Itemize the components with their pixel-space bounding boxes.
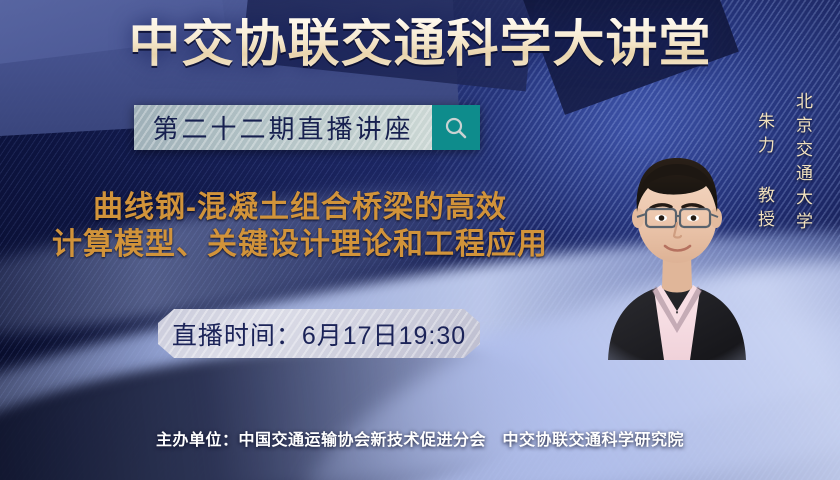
poster: 中交协联交通科学大讲堂 第二十二期直播讲座 曲线钢-混凝土组合桥梁的高效 计算模… [0,0,840,480]
speaker-name-title: 朱力 教授 [752,112,777,234]
lecture-topic-line1: 曲线钢-混凝土组合桥梁的高效 [0,190,600,227]
search-icon-box[interactable] [432,105,480,150]
broadcast-time-text: 直播时间：6月17日19:30 [172,316,466,352]
lecture-topic: 曲线钢-混凝土组合桥梁的高效 计算模型、关键设计理论和工程应用 [0,190,600,263]
speaker-photo [604,128,750,360]
organizer-footer: 主办单位：中国交通运输协会新技术促进分会 中交协联交通科学研究院 [0,426,840,450]
speaker-organization: 北京交通大学 [790,92,815,236]
page-title: 中交协联交通科学大讲堂 [0,18,840,70]
lecture-topic-line2: 计算模型、关键设计理论和工程应用 [0,227,600,264]
episode-banner: 第二十二期直播讲座 [134,105,480,150]
broadcast-time-box: 直播时间：6月17日19:30 [158,309,480,358]
speaker-photo-mask [604,128,750,360]
episode-label: 第二十二期直播讲座 [152,109,413,146]
search-icon [443,115,469,141]
speaker-portrait-illustration [604,128,750,360]
episode-banner-fill: 第二十二期直播讲座 [134,105,432,150]
